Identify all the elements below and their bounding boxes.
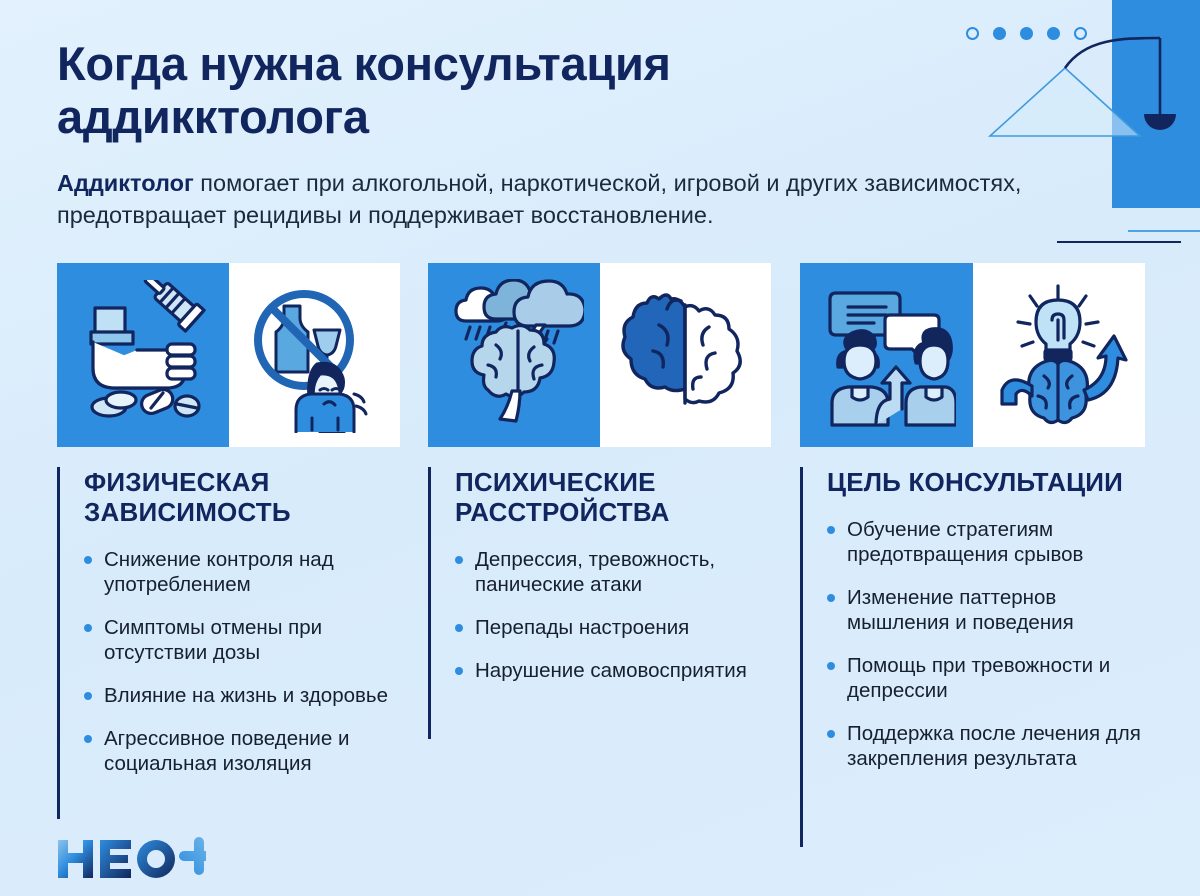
column-heading: ЦЕЛЬ КОНСУЛЬТАЦИИ — [827, 467, 1160, 497]
icon-panel-heart-brain — [600, 263, 772, 447]
column-consultation-goal: ЦЕЛЬ КОНСУЛЬТАЦИИ Обучение стратегиям пр… — [800, 467, 1160, 789]
brain-lightbulb-arrows-icon — [986, 280, 1131, 430]
column-physical-dependence: ФИЗИЧЕСКАЯ ЗАВИСИМОСТЬ Снижение контроля… — [57, 467, 407, 794]
list-item: Помощь при тревожности и депрессии — [827, 653, 1160, 703]
icon-panel-people-dialog — [800, 263, 973, 447]
light-rule-decoration — [1128, 230, 1200, 232]
list-item: Снижение контроля над употреблением — [84, 547, 407, 597]
bullet-list: Депрессия, тревожность, панические атаки… — [455, 547, 778, 683]
list-item: Обучение стратегиям предотвращения срыво… — [827, 517, 1160, 567]
icon-panel-brain-bulb — [973, 263, 1146, 447]
no-alcohol-sad-person-icon — [242, 278, 387, 433]
heart-brain-split-icon — [615, 285, 755, 425]
icon-panel-arm-syringe — [57, 263, 229, 447]
page-title: Когда нужна консультация аддикктолога — [57, 38, 917, 143]
list-item: Поддержка после лечения для закрепления … — [827, 721, 1160, 771]
column-heading: ФИЗИЧЕСКАЯ ЗАВИСИМОСТЬ — [84, 467, 407, 527]
arc-line-icon — [1065, 38, 1160, 68]
half-circle-icon — [1144, 114, 1176, 130]
list-item: Нарушение самовосприятия — [455, 658, 778, 683]
list-item: Влияние на жизнь и здоровье — [84, 683, 407, 708]
icon-group-mental — [428, 263, 771, 447]
list-item: Изменение паттернов мышления и поведения — [827, 585, 1160, 635]
geometric-decoration — [950, 0, 1200, 180]
page-subtitle: Аддиктолог помогает при алкогольной, нар… — [57, 168, 1117, 232]
list-item: Симптомы отмены при отсутствии дозы — [84, 615, 407, 665]
storm-cloud-brain-icon — [444, 279, 584, 431]
column-mental-disorders: ПСИХИЧЕСКИЕ РАССТРОЙСТВА Депрессия, трев… — [428, 467, 778, 701]
column-divider — [57, 467, 60, 819]
subtitle-lead-term: Аддиктолог — [57, 170, 194, 196]
triangle-outline-icon — [990, 68, 1140, 136]
arm-syringe-pills-icon — [73, 280, 213, 430]
subtitle-rest: помогает при алкогольной, наркотической,… — [57, 170, 1021, 228]
column-divider — [428, 467, 431, 739]
people-speech-bubbles-arrow-icon — [816, 283, 956, 428]
icon-group-goal — [800, 263, 1145, 447]
bullet-list: Снижение контроля над употреблением Симп… — [84, 547, 407, 776]
column-divider — [800, 467, 803, 847]
icon-group-physical — [57, 263, 400, 447]
bullet-list: Обучение стратегиям предотвращения срыво… — [827, 517, 1160, 771]
dark-rule-decoration — [1057, 241, 1181, 243]
neo-plus-logo-icon — [56, 836, 206, 882]
neo-plus-logo — [56, 836, 206, 882]
list-item: Перепады настроения — [455, 615, 778, 640]
icon-panel-no-alcohol — [229, 263, 401, 447]
column-heading: ПСИХИЧЕСКИЕ РАССТРОЙСТВА — [455, 467, 778, 527]
infographic-page: Когда нужна консультация аддикктолога Ад… — [0, 0, 1200, 896]
list-item: Депрессия, тревожность, панические атаки — [455, 547, 778, 597]
icon-panel-storm-brain — [428, 263, 600, 447]
icon-strip — [0, 263, 1200, 447]
list-item: Агрессивное поведение и социальная изоля… — [84, 726, 407, 776]
